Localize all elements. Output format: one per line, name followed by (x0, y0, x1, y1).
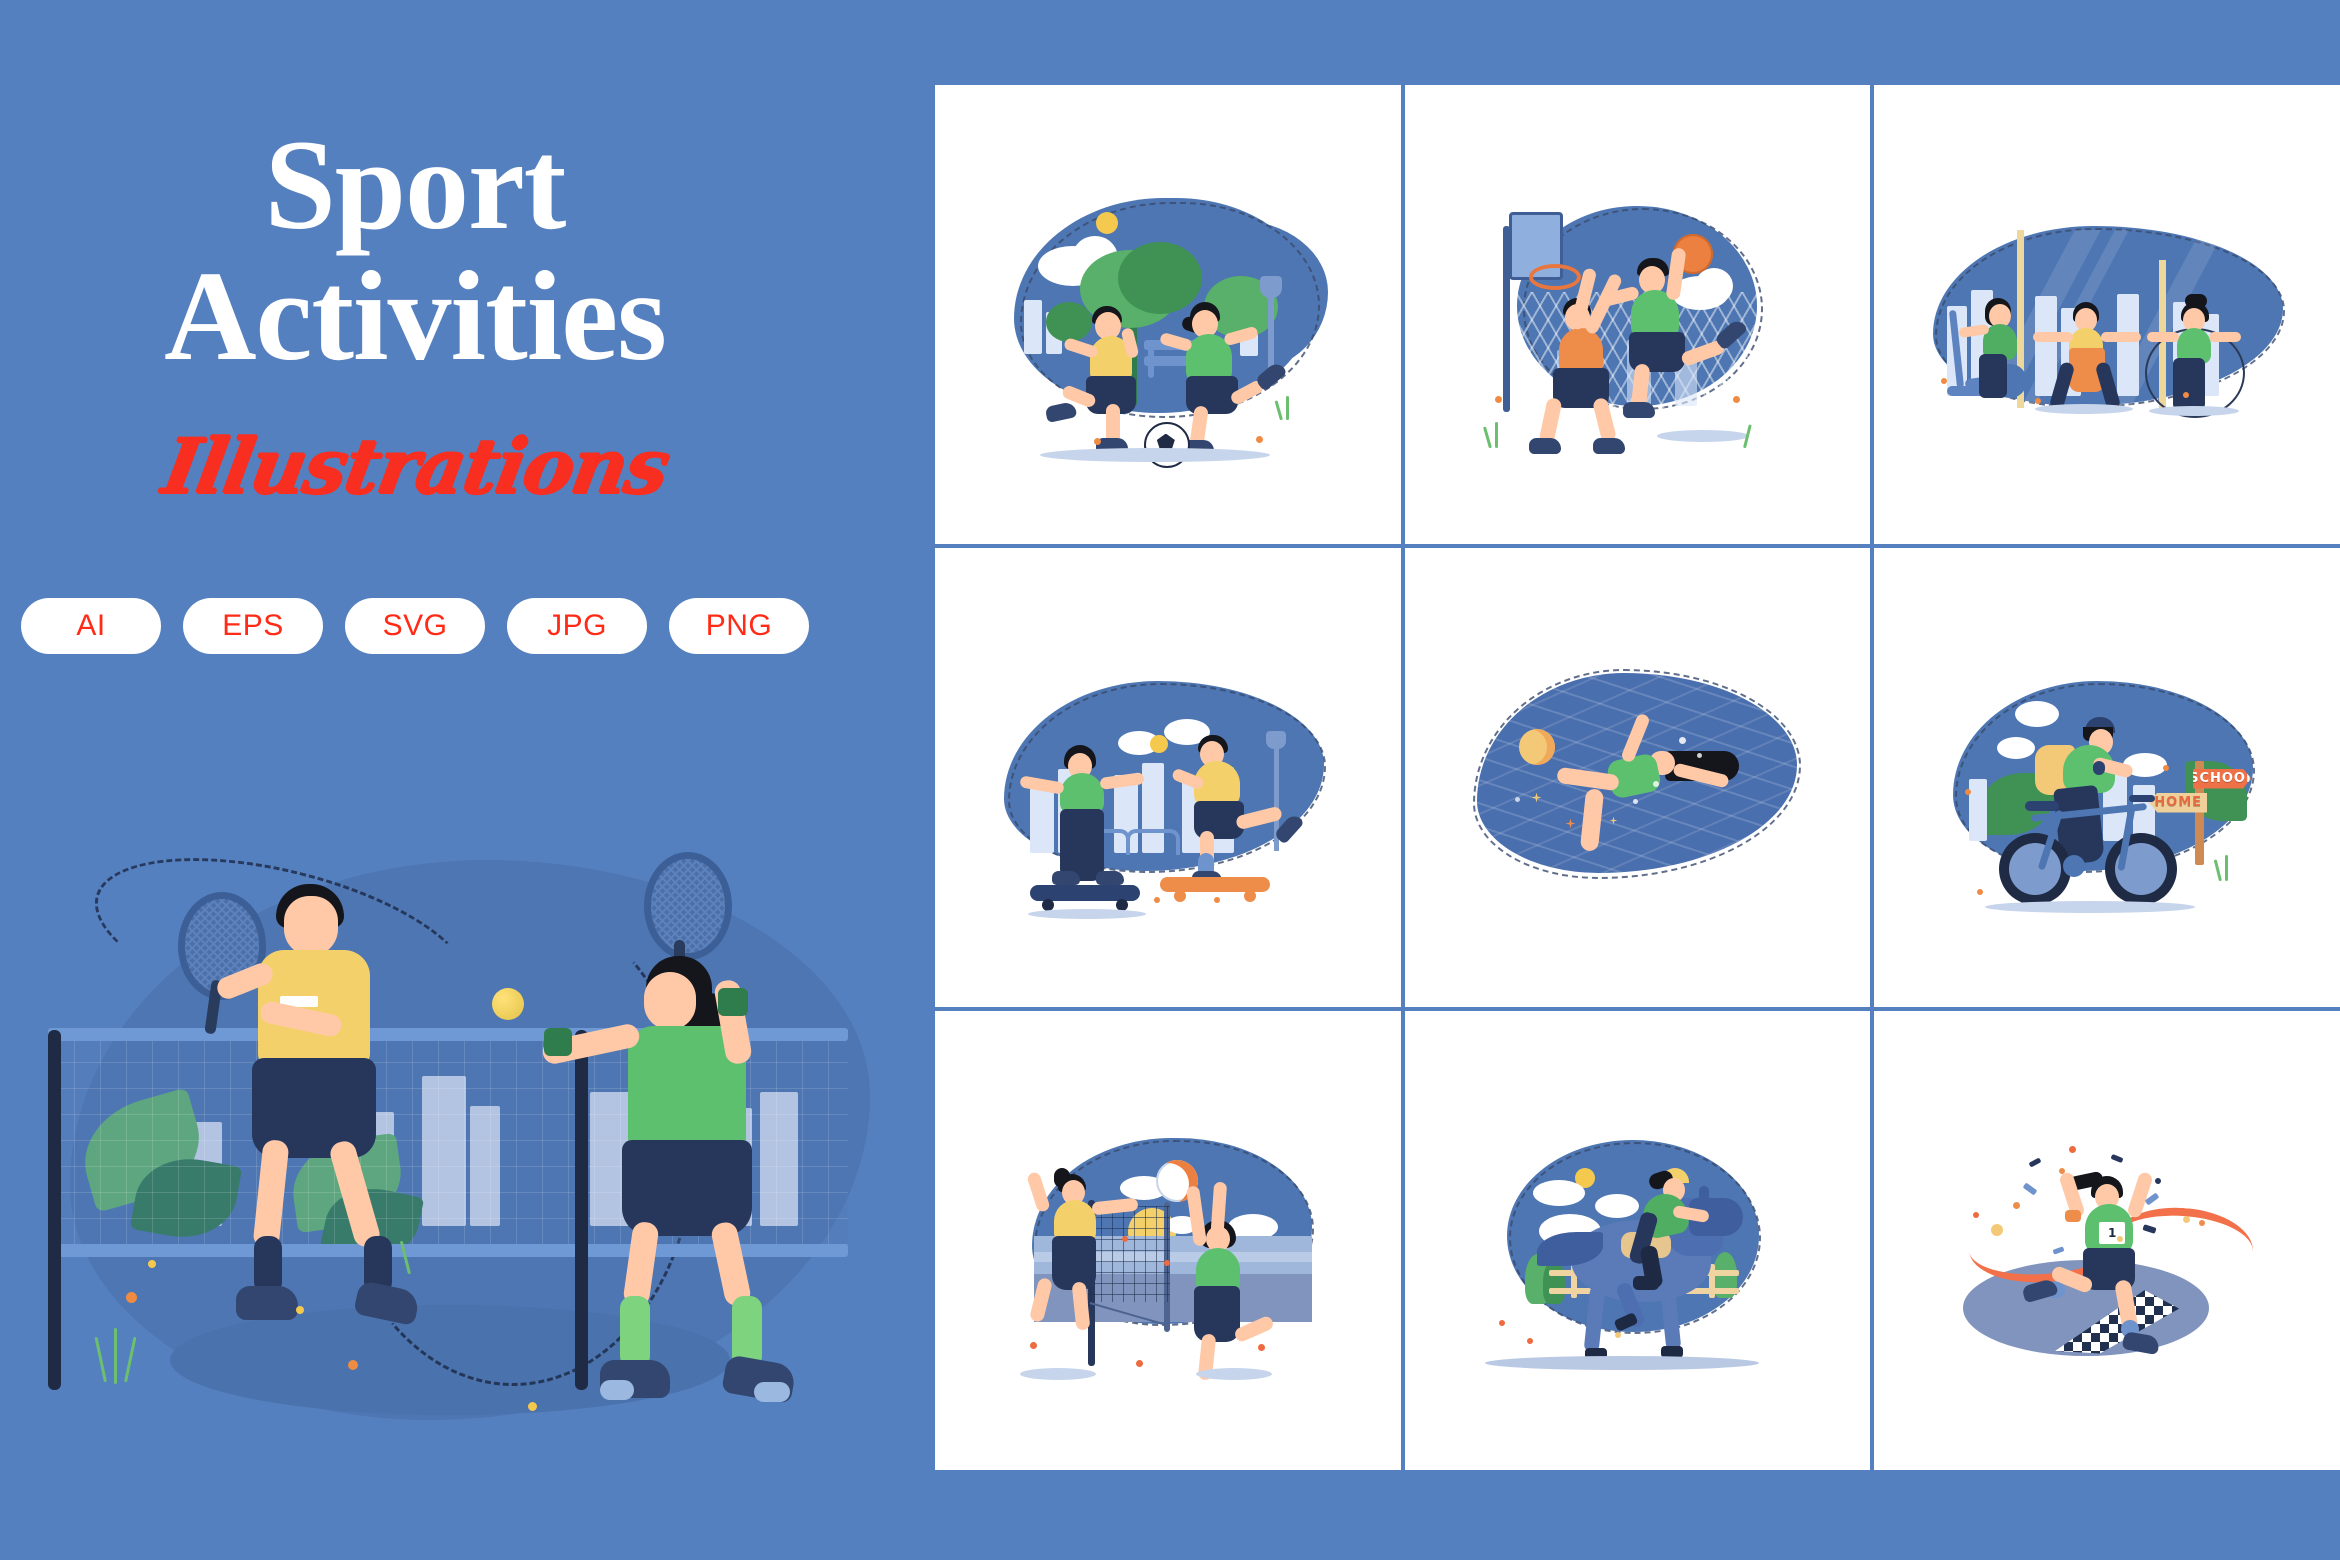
park-bench-leg (1148, 348, 1154, 378)
confetti (2029, 1157, 2042, 1167)
confetti-dot (2013, 1202, 2020, 1209)
grass-blade (1286, 396, 1289, 420)
grid-item-horse-riding[interactable] (1405, 1011, 1871, 1470)
grass-blade (1744, 424, 1753, 448)
grass-blade (114, 1328, 117, 1384)
grid-item-cycling[interactable]: SCHOOL HOME (1874, 548, 2340, 1007)
signpost-home: HOME (2149, 793, 2207, 813)
decorative-dot (148, 1260, 156, 1268)
ground-shadow (1985, 901, 2195, 913)
sock-left (620, 1296, 650, 1368)
wristband-right (718, 988, 748, 1016)
arm-right (2101, 332, 2141, 342)
decorative-dot (1941, 378, 1947, 384)
format-badge-ai[interactable]: AI (21, 598, 161, 654)
confetti-dot (1991, 1224, 2003, 1236)
tree-foliage (1046, 302, 1092, 342)
bicycle-handlebar (2129, 795, 2155, 802)
illustration-grid: SCHOOL HOME (935, 85, 2340, 1470)
head (284, 896, 338, 956)
title-block: Sport Activities Illustrations (0, 120, 830, 510)
title-line-1: Sport (265, 114, 566, 256)
grass-blade (124, 1337, 136, 1383)
bicycle-seat (2025, 801, 2059, 811)
shoe-left (236, 1286, 298, 1320)
tree-foliage (1118, 242, 1202, 314)
net-mesh (1090, 1206, 1170, 1302)
decorative-dot (1030, 1342, 1037, 1349)
confetti-dot (1973, 1212, 1979, 1218)
skateboard-wheel (1244, 890, 1256, 902)
grid-item-swimming[interactable] (1405, 548, 1871, 1007)
shorts (1186, 376, 1238, 414)
skatepark-rail (1126, 829, 1180, 855)
format-badge-list: AI EPS SVG JPG PNG (0, 598, 830, 654)
signpost-school: SCHOOL (2193, 769, 2251, 789)
decorative-dot (126, 1292, 137, 1303)
hoop-ring (1529, 264, 1581, 290)
format-badge-eps[interactable]: EPS (183, 598, 323, 654)
decorative-dot (2163, 765, 2169, 771)
grid-item-gym[interactable] (1874, 85, 2340, 544)
wristband-left (544, 1028, 572, 1056)
decorative-dot (1977, 889, 1983, 895)
riding-boot (1633, 1276, 1659, 1290)
ground-shadow (2149, 406, 2239, 416)
skateboard-deck-orange (1160, 877, 1270, 892)
shoe (1096, 871, 1124, 885)
decorative-dot (1256, 436, 1263, 443)
grass-blade (2214, 859, 2222, 881)
ground-shadow (1657, 430, 1749, 442)
street-lamp-head (1260, 276, 1282, 298)
decorative-dot (296, 1306, 304, 1314)
grid-item-basketball[interactable] (1405, 85, 1871, 544)
sun-icon (1150, 735, 1168, 753)
title-line-2: Activities (164, 245, 666, 387)
hero-illustration (30, 840, 910, 1500)
tennis-ball (492, 988, 524, 1020)
bicycle-crank (2063, 855, 2085, 877)
cloud (1595, 1194, 1639, 1218)
arm (2147, 332, 2179, 342)
decorative-dot (1527, 1338, 1533, 1344)
decorative-dot (1094, 438, 1101, 445)
grass-blade (1495, 422, 1498, 448)
skyline-building (2117, 294, 2139, 396)
skyline-building (1969, 779, 1987, 841)
tennis-racket-right (644, 852, 732, 960)
grid-item-volleyball[interactable] (935, 1011, 1401, 1470)
skateboard-wheel (1116, 899, 1128, 911)
shoe-sole-right (754, 1382, 790, 1402)
decorative-dot (348, 1360, 358, 1370)
decorative-dot (2183, 392, 2189, 398)
arm (2209, 332, 2241, 342)
decorative-dot (1154, 897, 1160, 903)
bicycle-wheel-rear-inner (2009, 843, 2061, 895)
grass-blade (94, 1337, 106, 1383)
wristband-orange (2065, 1210, 2081, 1222)
street-lamp-head (1266, 731, 1286, 749)
tennis-net-post-right (575, 1030, 588, 1390)
decorative-dot (2035, 398, 2041, 404)
grass-blade (2225, 855, 2228, 881)
cloud (1695, 268, 1733, 304)
confetti-dot (2155, 1178, 2161, 1184)
page-title: Sport Activities (0, 120, 830, 381)
ground-shadow (1020, 1368, 1096, 1380)
grid-item-skateboard[interactable] (935, 548, 1401, 1007)
decorative-dot (1122, 1236, 1128, 1242)
shoe (1529, 438, 1561, 454)
confetti-dot (2059, 1168, 2065, 1174)
decorative-dot (1258, 1344, 1265, 1351)
horse-ear (1699, 1186, 1709, 1204)
ground-shadow (1028, 909, 1146, 919)
head (644, 972, 696, 1030)
format-badge-svg[interactable]: SVG (345, 598, 485, 654)
cloud (2015, 701, 2059, 727)
skyline-building (2133, 785, 2155, 841)
decorative-dot (1499, 1320, 1505, 1326)
legs (2173, 358, 2205, 410)
ground-shadow (2035, 404, 2133, 414)
shorts-navy (1194, 1286, 1240, 1342)
cloud (1997, 737, 2035, 759)
skyline-building (2035, 296, 2057, 396)
grid-item-running[interactable]: 1 (1874, 1011, 2340, 1470)
confetti (2111, 1153, 2124, 1162)
skateboard-wheel (1042, 899, 1054, 911)
confetti-dot (2117, 1236, 2123, 1242)
ground-shadow (1196, 1368, 1272, 1380)
sun-icon (1096, 212, 1118, 234)
format-badge-png[interactable]: PNG (669, 598, 809, 654)
cloud (1533, 1180, 1585, 1206)
legs (1979, 354, 2007, 398)
confetti-dot (2199, 1220, 2205, 1226)
subtitle-illustrations: Illustrations (0, 421, 838, 510)
grass-blade (1274, 400, 1282, 420)
ground-shadow (1485, 1356, 1759, 1370)
arm-left (2033, 332, 2073, 342)
shoe (1044, 401, 1077, 423)
shoe-sole-left (600, 1380, 634, 1400)
beach-ball (1519, 729, 1555, 765)
shoe (1623, 402, 1655, 418)
shoe (1593, 438, 1625, 454)
format-badge-jpg[interactable]: JPG (507, 598, 647, 654)
decorative-dot (528, 1402, 537, 1411)
shoe (1052, 871, 1080, 885)
arm-raised (1026, 1170, 1051, 1212)
confetti-dot (2069, 1146, 2076, 1153)
jeans (1060, 809, 1104, 881)
confetti-dot (2183, 1216, 2190, 1223)
skateboard-wheel (1174, 890, 1186, 902)
decorative-dot (1965, 789, 1971, 795)
decorative-dot (1214, 897, 1220, 903)
left-panel: Sport Activities Illustrations AI EPS SV… (0, 0, 935, 1560)
decorative-dot (1164, 1260, 1170, 1266)
decorative-dot (1495, 396, 1502, 403)
tennis-net-post-left (48, 1030, 61, 1390)
shorts-navy (1052, 1236, 1096, 1290)
wristband (2093, 761, 2105, 775)
skyline-building (1024, 300, 1042, 354)
confetti (2023, 1182, 2038, 1195)
grass-blade (1483, 426, 1492, 448)
ground-shadow (1040, 448, 1270, 462)
grid-item-soccer[interactable] (935, 85, 1401, 544)
decorative-dot (1136, 1360, 1143, 1367)
